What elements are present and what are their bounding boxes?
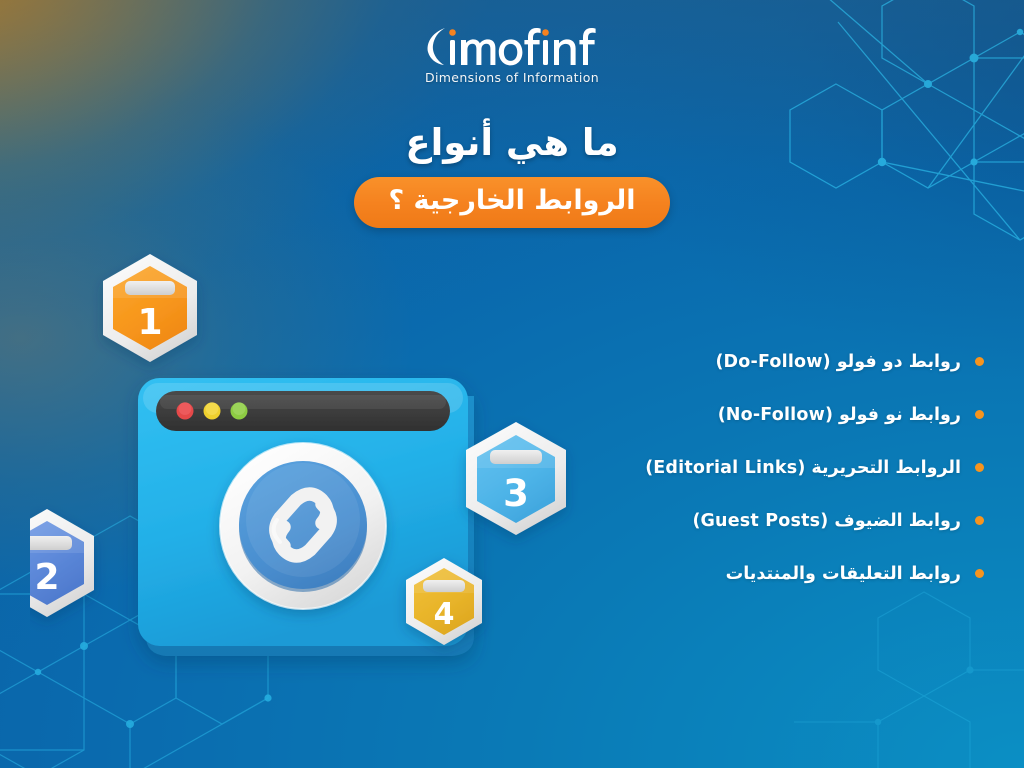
list-item[interactable]: روابط نو فولو (No-Follow): [645, 388, 984, 441]
bullet-dot-icon: [975, 410, 984, 419]
hexagon-badge-2[interactable]: 2: [30, 509, 94, 617]
hexagon-plaque: [125, 281, 175, 295]
hexagon-number: 1: [137, 302, 162, 343]
hexagon-plaque: [423, 580, 465, 592]
list-item-label: الروابط التحريرية (Editorial Links): [645, 458, 961, 478]
browser-titlebar: [156, 391, 450, 431]
list-item[interactable]: روابط الضيوف (Guest Posts): [645, 494, 984, 547]
list-item[interactable]: الروابط التحريرية (Editorial Links): [645, 441, 984, 494]
list-item-label: روابط نو فولو (No-Follow): [718, 405, 961, 425]
list-item-label: روابط دو فولو (Do-Follow): [716, 352, 961, 372]
link-badge: [220, 443, 386, 609]
hexagon-number: 4: [434, 597, 455, 632]
title-block: ما هي أنواع الروابط الخارجية ؟: [0, 122, 1024, 228]
bullet-dot-icon: [975, 516, 984, 525]
hex-network-pattern-bottom-right: [794, 574, 1024, 768]
list-item[interactable]: روابط دو فولو (Do-Follow): [645, 335, 984, 388]
link-types-list: روابط دو فولو (Do-Follow) روابط نو فولو …: [645, 335, 984, 600]
bullet-dot-icon: [975, 357, 984, 366]
logo-tagline: Dimensions of Information: [425, 70, 599, 85]
hexagon-badge-1[interactable]: 1: [103, 254, 197, 362]
list-item-label: روابط التعليقات والمنتديات: [726, 564, 961, 584]
brand-logo: Dimensions of Information: [0, 24, 1024, 85]
hexagon-badge-3[interactable]: 3: [466, 422, 566, 535]
hexagon-number: 2: [34, 557, 59, 598]
link-illustration: 1 2 3 4: [30, 250, 610, 690]
hexagon-plaque: [30, 536, 72, 550]
hexagon-plaque: [490, 450, 542, 464]
hexagon-number: 3: [503, 472, 529, 515]
bullet-dot-icon: [975, 569, 984, 578]
dimofinf-logo-icon: [424, 24, 600, 68]
list-item-label: روابط الضيوف (Guest Posts): [692, 511, 961, 531]
title-badge-pill: الروابط الخارجية ؟: [354, 177, 669, 228]
list-item[interactable]: روابط التعليقات والمنتديات: [645, 547, 984, 600]
page-title: ما هي أنواع: [405, 122, 618, 163]
infographic-canvas: Dimensions of Information ما هي أنواع ال…: [0, 0, 1024, 768]
bullet-dot-icon: [975, 463, 984, 472]
